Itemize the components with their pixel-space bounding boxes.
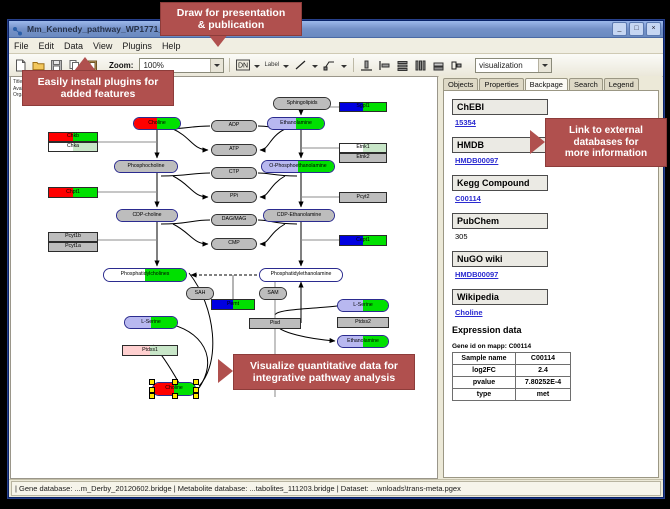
nugo-wiki-link[interactable]: HMDB00097 (455, 270, 658, 279)
expr-key-type: type (453, 389, 516, 401)
expr-val-type: met (516, 389, 571, 401)
callout-visualize-arrow-right-icon (218, 359, 233, 383)
menu-view[interactable]: View (92, 41, 113, 51)
node-label: Cept1 (356, 238, 370, 243)
pathway-node-gene[interactable]: Pcyt1a (48, 242, 98, 252)
node-label: Choline (165, 386, 183, 391)
group-icon[interactable] (449, 58, 464, 73)
table-row: Sample name C00114 (453, 353, 571, 365)
chevron-down-icon[interactable] (210, 59, 223, 72)
align-top-icon[interactable] (359, 58, 374, 73)
maximize-button[interactable]: □ (629, 22, 644, 36)
node-label: Chka (67, 144, 79, 149)
selection-handle[interactable] (149, 379, 155, 385)
line-icon[interactable] (293, 58, 308, 73)
pathway-node-metabolite[interactable]: Ethanolamine (337, 335, 389, 348)
pathway-node-metabolite[interactable]: SAH (186, 287, 214, 300)
stack-icon[interactable] (431, 58, 446, 73)
kegg-compound-link[interactable]: C00114 (455, 194, 658, 203)
pathway-node-metabolite[interactable]: Phosphatidylethanolamine (259, 268, 343, 282)
pathway-node-metabolite[interactable]: Sphingolipids (273, 97, 331, 110)
node-label: Etnk1 (356, 145, 369, 150)
pathway-node-gene[interactable]: Pcyt2 (339, 192, 387, 203)
pathway-node-gene[interactable]: Chpt1 (48, 187, 98, 198)
pathway-node-gene[interactable]: Etnk1 (339, 143, 387, 153)
table-row: log2FC 2.4 (453, 365, 571, 377)
pathway-node-gene[interactable]: Pcyt1b (48, 232, 98, 242)
menu-plugins[interactable]: Plugins (121, 41, 153, 51)
expr-key-log2fc: log2FC (453, 365, 516, 377)
node-label: Sphingolipids (287, 101, 318, 106)
screenshot-root: Mm_Kennedy_pathway_WP1771_45176.gpml _ □… (0, 0, 670, 509)
pathway-node-metabolite[interactable]: CMP (211, 238, 257, 250)
wikipedia-header: Wikipedia (452, 289, 548, 305)
pubchem-value: 305 (455, 232, 658, 241)
callout-visualize-data: Visualize quantitative data for integrat… (233, 354, 415, 390)
nugo-wiki-header: NuGO wiki (452, 251, 548, 267)
pathway-node-gene[interactable]: Pemt (211, 299, 255, 310)
node-label: DAG/MAG (222, 217, 247, 222)
datanode-dropdown-icon[interactable] (253, 58, 261, 72)
tab-properties[interactable]: Properties (479, 78, 523, 90)
node-label: CDP-Ethanolamine (277, 213, 321, 218)
node-label: Ptdss2 (355, 320, 371, 325)
callout-plugins-arrow-up-icon (74, 57, 96, 71)
selection-handle[interactable] (193, 379, 199, 385)
pathway-node-metabolite[interactable]: ATP (211, 144, 257, 156)
app-icon (12, 24, 23, 35)
pathway-node-gene[interactable]: Chkb (48, 132, 98, 142)
expr-key-pvalue: pvalue (453, 377, 516, 389)
wikipedia-link[interactable]: Choline (455, 308, 658, 317)
callout-draw-text: Draw for presentation & publication (177, 7, 286, 31)
selection-handle[interactable] (193, 393, 199, 399)
node-label: CTP (229, 170, 239, 175)
node-label: Phosphatidylethanolamine (271, 272, 332, 277)
callout-plugins-text: Easily install plugins for added feature… (38, 76, 159, 100)
node-label: L-Serine (353, 303, 373, 308)
datanode-icon[interactable]: DN (235, 58, 250, 73)
pubchem-header: PubChem (452, 213, 548, 229)
node-label: Chkb (67, 134, 79, 139)
shape-dropdown-icon[interactable] (340, 58, 348, 72)
node-label: CMP (228, 241, 240, 246)
menubar: File Edit Data View Plugins Help (9, 38, 663, 54)
callout-link-arrow-right-icon (530, 130, 545, 154)
visualization-combo[interactable]: visualization (475, 58, 552, 73)
expr-val-sample-name: C00114 (516, 353, 571, 365)
label-dropdown-icon[interactable] (282, 58, 290, 72)
pathway-node-metabolite[interactable]: L-Serine (337, 299, 389, 312)
callout-link-text: Link to external databases for more info… (565, 125, 647, 160)
callout-link-external-db: Link to external databases for more info… (545, 118, 667, 167)
expr-key-sample-name: Sample name (453, 353, 516, 365)
chebi-header: ChEBI (452, 99, 548, 115)
node-label: Choline (148, 121, 166, 126)
distribute-horizontal-icon[interactable] (413, 58, 428, 73)
pathway-node-gene[interactable]: Ptdss1 (122, 345, 178, 356)
visualization-value: visualization (479, 61, 523, 70)
expr-val-log2fc: 2.4 (516, 365, 571, 377)
pathway-node-gene[interactable]: Cept1 (339, 235, 387, 246)
table-row: pvalue 7.80252E-4 (453, 377, 571, 389)
status-bar-text: | Gene database: ...m_Derby_20120602.bri… (11, 481, 661, 496)
menu-help[interactable]: Help (161, 41, 182, 51)
zoom-value: 100% (143, 61, 163, 70)
distribute-vertical-icon[interactable] (395, 58, 410, 73)
node-label: SAM (267, 291, 278, 296)
node-label: Pcyt1b (65, 234, 81, 239)
node-label: O-Phosphoethanolamine (269, 164, 326, 169)
selection-handle[interactable] (172, 393, 178, 399)
node-label: Ptdss1 (142, 348, 158, 353)
callout-install-plugins: Easily install plugins for added feature… (22, 70, 174, 106)
node-label: Pcyt2 (357, 195, 370, 200)
tab-legend[interactable]: Legend (604, 78, 639, 90)
node-label: ADP (229, 123, 240, 128)
table-row: type met (453, 389, 571, 401)
node-label: Etnk2 (356, 155, 369, 160)
tab-objects[interactable]: Objects (443, 78, 478, 90)
visualization-chevron-down-icon[interactable] (538, 59, 551, 72)
shape-icon[interactable] (322, 58, 337, 73)
pathway-node-gene[interactable]: Pisd (249, 318, 301, 329)
label-tool-label[interactable]: Label (264, 62, 279, 68)
pathway-node-metabolite[interactable]: CDP-Ethanolamine (263, 209, 335, 222)
zoom-label: Zoom: (109, 61, 133, 70)
pathway-node-metabolite[interactable]: O-Phosphoethanolamine (261, 160, 335, 173)
pathway-node-gene[interactable]: Chka (48, 142, 98, 152)
expression-data-heading: Expression data (452, 325, 658, 335)
node-label: Pemt (227, 302, 239, 307)
callout-visualize-text: Visualize quantitative data for integrat… (250, 360, 398, 384)
align-left-icon[interactable] (377, 58, 392, 73)
pathway-node-metabolite[interactable]: CDP-choline (116, 209, 178, 222)
menu-edit[interactable]: Edit (38, 41, 56, 51)
pathway-node-metabolite[interactable]: Phosphatidylcholines (103, 268, 187, 282)
pathway-node-gene[interactable]: Sgpl1 (339, 102, 387, 112)
pathway-node-metabolite[interactable]: PPi (211, 191, 257, 203)
minimize-button[interactable]: _ (612, 22, 627, 36)
tab-search[interactable]: Search (569, 78, 603, 90)
svg-text:DN: DN (238, 63, 248, 70)
pathway-node-metabolite[interactable]: CTP (211, 167, 257, 179)
pathway-canvas[interactable]: Title: Availa Organ (10, 76, 438, 479)
node-label: Sgpl1 (356, 104, 369, 109)
node-label: CDP-choline (132, 213, 161, 218)
close-button[interactable]: × (646, 22, 661, 36)
node-label: SAH (195, 291, 206, 296)
node-label: Pisd (270, 321, 280, 326)
gene-id-on-mapp: Gene id on mapp: C00114 (452, 343, 658, 350)
selection-handle[interactable] (149, 393, 155, 399)
side-panel-tabs: Objects Properties Backpage Search Legen… (439, 76, 662, 90)
pathway-node-metabolite[interactable]: ADP (211, 120, 257, 132)
pathway-node-gene[interactable]: Ptdss2 (337, 317, 389, 328)
pathway-node-metabolite[interactable]: L-Serine (124, 316, 178, 329)
node-label: ATP (229, 147, 239, 152)
node-label: Phosphatidylcholines (121, 272, 170, 277)
node-label: Ethanolamine (280, 121, 312, 126)
line-dropdown-icon[interactable] (311, 58, 319, 72)
node-label: Phosphocholine (128, 164, 165, 169)
pathway-node-metabolite[interactable]: Ethanolamine (267, 117, 325, 130)
toolbar-separator (229, 58, 230, 72)
pathway-node-metabolite[interactable]: Phosphocholine (114, 160, 178, 173)
node-label: L-Serine (141, 320, 161, 325)
node-label: PPi (230, 194, 238, 199)
status-bar: | Gene database: ...m_Derby_20120602.bri… (9, 479, 663, 497)
expr-val-pvalue: 7.80252E-4 (516, 377, 571, 389)
selection-handle[interactable] (172, 379, 178, 385)
node-label: Chpt1 (66, 190, 80, 195)
pathway-node-metabolite[interactable]: DAG/MAG (211, 214, 257, 226)
pathway-node-metabolite[interactable]: SAM (259, 287, 287, 300)
node-label: Ethanolamine (347, 339, 379, 344)
pathway-node-gene[interactable]: Etnk2 (339, 153, 387, 163)
callout-draw-for-publication: Draw for presentation & publication (160, 2, 302, 36)
expression-table: Sample name C00114 log2FC 2.4 pvalue 7.8… (452, 352, 571, 401)
window-controls: _ □ × (612, 22, 661, 36)
kegg-compound-header: Kegg Compound (452, 175, 548, 191)
window-titlebar: Mm_Kennedy_pathway_WP1771_45176.gpml _ □… (9, 21, 663, 38)
menu-data[interactable]: Data (63, 41, 84, 51)
menu-file[interactable]: File (13, 41, 30, 51)
node-label: Pcyt1a (65, 244, 81, 249)
pathway-node-metabolite[interactable]: Choline (133, 117, 181, 130)
toolbar-separator-2 (353, 58, 354, 72)
